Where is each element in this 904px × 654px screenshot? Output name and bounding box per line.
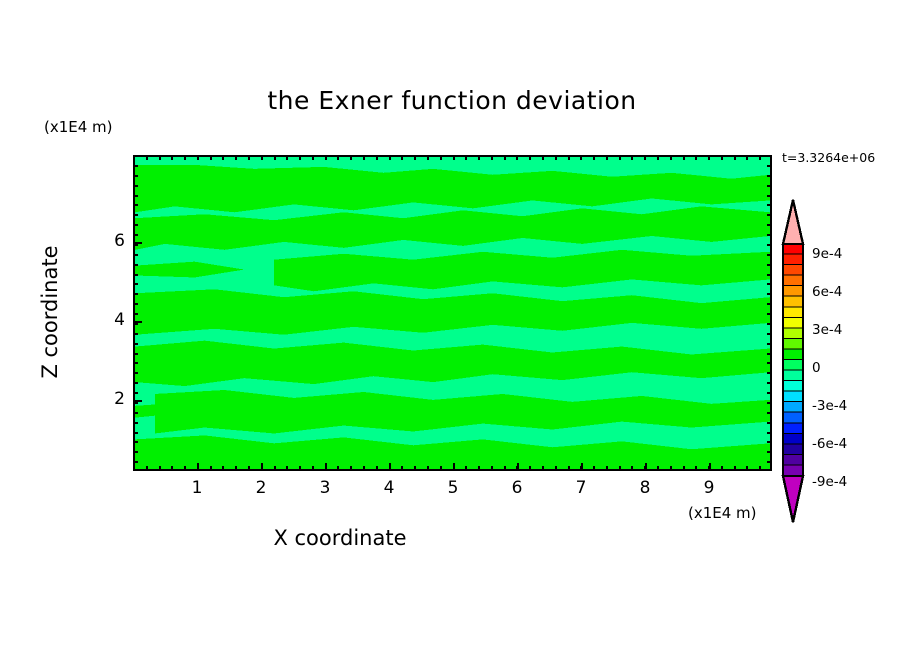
colorbar-tick-label: -6e-4 — [812, 436, 847, 452]
x-tick-minor — [542, 155, 544, 160]
colorbar-band — [783, 276, 803, 287]
contour-field — [135, 157, 770, 469]
y-tick-minor — [133, 412, 138, 414]
x-tick-minor — [734, 155, 736, 160]
y-tick-minor — [767, 283, 772, 285]
x-tick-minor — [465, 155, 467, 160]
x-tick-minor — [299, 466, 301, 471]
x-tick-minor — [657, 155, 659, 160]
colorbar-tick-label: 9e-4 — [812, 246, 842, 262]
y-tick-minor — [133, 392, 138, 394]
x-tick-minor — [222, 466, 224, 471]
colorbar-band — [783, 307, 803, 318]
y-tick-minor — [767, 303, 772, 305]
contour-plot-area[interactable] — [133, 155, 772, 471]
x-tick-minor — [683, 155, 685, 160]
x-tick-minor — [580, 466, 582, 471]
colorbar-tick-label: -3e-4 — [812, 398, 847, 414]
chart-title: the Exner function deviation — [0, 86, 904, 115]
y-tick-minor — [133, 165, 138, 167]
colorbar-band — [783, 360, 803, 371]
x-tick-minor — [721, 466, 723, 471]
x-tick-minor — [325, 466, 327, 471]
y-tick-minor — [767, 362, 772, 364]
x-tick-minor — [555, 466, 557, 471]
x-tick-minor — [670, 466, 672, 471]
y-tick-minor — [133, 175, 138, 177]
colorbar-tick-label: -9e-4 — [812, 474, 847, 490]
x-tick-minor — [580, 155, 582, 160]
x-tick-minor — [606, 155, 608, 160]
y-tick-minor — [767, 204, 772, 206]
y-tick-minor — [133, 283, 138, 285]
x-tick-minor — [555, 155, 557, 160]
y-tick-minor — [767, 214, 772, 216]
y-axis-unit-label: (x1E4 m) — [44, 118, 113, 136]
x-tick-minor — [427, 466, 429, 471]
x-tick-minor — [261, 466, 263, 471]
y-tick-minor — [767, 175, 772, 177]
y-tick-minor — [767, 353, 772, 355]
x-tick-minor — [363, 155, 365, 160]
x-tick-minor — [619, 466, 621, 471]
x-tick-minor — [734, 466, 736, 471]
x-tick-minor — [631, 155, 633, 160]
x-tick-minor — [708, 466, 710, 471]
y-tick-minor — [133, 254, 138, 256]
x-tick-minor — [593, 466, 595, 471]
x-tick-label: 8 — [630, 478, 660, 498]
timestamp-label: t=3.3264e+06 — [782, 150, 875, 165]
x-tick-minor — [159, 155, 161, 160]
colorbar-cap-top — [783, 200, 803, 244]
x-tick-minor — [516, 466, 518, 471]
x-tick-minor — [286, 155, 288, 160]
y-tick-minor — [133, 432, 138, 434]
x-tick-minor — [197, 466, 199, 471]
x-tick-minor — [440, 155, 442, 160]
colorbar-band — [783, 402, 803, 413]
y-tick-minor — [133, 323, 138, 325]
x-tick-label: 7 — [566, 478, 596, 498]
colorbar-tick-label: 3e-4 — [812, 322, 842, 338]
y-tick-minor — [767, 195, 772, 197]
x-tick-minor — [453, 466, 455, 471]
x-tick-minor — [465, 466, 467, 471]
x-tick-minor — [146, 466, 148, 471]
x-tick-minor — [350, 155, 352, 160]
x-tick-label: 2 — [246, 478, 276, 498]
x-tick-minor — [491, 466, 493, 471]
y-tick-minor — [133, 293, 138, 295]
y-tick-minor — [767, 422, 772, 424]
x-tick-minor — [248, 155, 250, 160]
colorbar-band — [783, 455, 803, 466]
x-tick-minor — [299, 155, 301, 160]
y-tick-minor — [133, 313, 138, 315]
y-tick-minor — [133, 264, 138, 266]
y-tick-label: 6 — [103, 231, 125, 251]
x-tick-label: 3 — [310, 478, 340, 498]
x-tick-minor — [210, 466, 212, 471]
y-tick-minor — [767, 392, 772, 394]
y-tick-minor — [133, 422, 138, 424]
y-tick-label: 4 — [103, 310, 125, 330]
y-tick-minor — [767, 333, 772, 335]
x-tick-minor — [222, 155, 224, 160]
x-tick-minor — [657, 466, 659, 471]
x-tick-minor — [619, 155, 621, 160]
y-tick-minor — [767, 293, 772, 295]
x-tick-minor — [184, 155, 186, 160]
y-tick-minor — [133, 333, 138, 335]
y-tick-minor — [767, 234, 772, 236]
x-tick-minor — [261, 155, 263, 160]
x-tick-minor — [644, 155, 646, 160]
x-tick-minor — [708, 155, 710, 160]
x-tick-minor — [504, 466, 506, 471]
colorbar-tick-label: 6e-4 — [812, 284, 842, 300]
x-tick-minor — [568, 466, 570, 471]
x-tick-minor — [759, 155, 761, 160]
x-tick-minor — [542, 466, 544, 471]
x-tick-minor — [593, 155, 595, 160]
colorbar-band — [783, 286, 803, 297]
colorbar-band — [783, 434, 803, 445]
x-tick-minor — [337, 466, 339, 471]
x-tick-label: 1 — [182, 478, 212, 498]
y-tick-minor — [133, 441, 138, 443]
colorbar-cap-bottom — [783, 476, 803, 522]
y-tick-minor — [767, 254, 772, 256]
x-tick-minor — [414, 466, 416, 471]
x-tick-minor — [146, 155, 148, 160]
y-tick-minor — [133, 461, 138, 463]
colorbar-band — [783, 297, 803, 308]
x-tick-label: 9 — [694, 478, 724, 498]
x-tick-minor — [184, 466, 186, 471]
y-tick-minor — [767, 451, 772, 453]
x-tick-minor — [478, 155, 480, 160]
y-tick-minor — [133, 274, 138, 276]
colorbar-band — [783, 371, 803, 382]
colorbar-band — [783, 339, 803, 350]
x-tick-label: 6 — [502, 478, 532, 498]
x-tick-minor — [325, 155, 327, 160]
colorbar-band — [783, 255, 803, 266]
y-tick-minor — [767, 343, 772, 345]
colorbar-band — [783, 423, 803, 434]
y-tick-minor — [767, 274, 772, 276]
x-tick-minor — [440, 466, 442, 471]
colorbar-band — [783, 318, 803, 329]
y-tick-minor — [767, 461, 772, 463]
x-tick-minor — [171, 155, 173, 160]
y-tick-minor — [133, 244, 138, 246]
colorbar-band — [783, 413, 803, 424]
x-tick-minor — [159, 466, 161, 471]
x-tick-minor — [683, 466, 685, 471]
colorbar-band — [783, 444, 803, 455]
x-tick-minor — [759, 466, 761, 471]
y-tick-minor — [767, 244, 772, 246]
x-tick-minor — [274, 466, 276, 471]
x-tick-minor — [312, 466, 314, 471]
y-tick-minor — [767, 264, 772, 266]
y-tick-minor — [767, 323, 772, 325]
x-tick-minor — [453, 155, 455, 160]
x-tick-minor — [491, 155, 493, 160]
y-tick-minor — [767, 313, 772, 315]
x-tick-minor — [746, 155, 748, 160]
y-tick-minor — [767, 382, 772, 384]
x-tick-minor — [376, 155, 378, 160]
x-tick-minor — [670, 155, 672, 160]
colorbar-band — [783, 328, 803, 339]
y-tick-label: 2 — [103, 389, 125, 409]
x-tick-minor — [631, 466, 633, 471]
x-tick-minor — [746, 466, 748, 471]
y-tick-minor — [133, 353, 138, 355]
x-axis-title: X coordinate — [0, 526, 680, 550]
y-tick-minor — [767, 441, 772, 443]
y-tick-minor — [133, 362, 138, 364]
x-tick-minor — [350, 466, 352, 471]
x-tick-minor — [210, 155, 212, 160]
colorbar-band — [783, 381, 803, 392]
x-tick-minor — [568, 155, 570, 160]
y-tick-minor — [133, 402, 138, 404]
y-tick-minor — [133, 224, 138, 226]
y-tick-minor — [133, 372, 138, 374]
y-tick-minor — [133, 382, 138, 384]
x-tick-minor — [427, 155, 429, 160]
y-tick-minor — [133, 204, 138, 206]
x-tick-minor — [363, 466, 365, 471]
x-tick-minor — [529, 466, 531, 471]
x-tick-minor — [248, 466, 250, 471]
x-tick-minor — [721, 155, 723, 160]
y-tick-minor — [767, 185, 772, 187]
colorbar-band — [783, 265, 803, 276]
y-tick-minor — [767, 432, 772, 434]
y-tick-minor — [767, 224, 772, 226]
x-axis-unit-label: (x1E4 m) — [688, 504, 757, 522]
y-tick-minor — [133, 195, 138, 197]
colorbar-tick-label: 0 — [812, 360, 821, 376]
y-tick-minor — [767, 165, 772, 167]
x-tick-minor — [401, 155, 403, 160]
x-tick-minor — [401, 466, 403, 471]
x-tick-label: 5 — [438, 478, 468, 498]
x-tick-minor — [695, 466, 697, 471]
x-tick-minor — [197, 155, 199, 160]
x-tick-minor — [516, 155, 518, 160]
colorbar-band — [783, 392, 803, 403]
y-tick-minor — [133, 234, 138, 236]
x-tick-minor — [235, 466, 237, 471]
x-tick-minor — [286, 466, 288, 471]
x-tick-minor — [376, 466, 378, 471]
x-tick-minor — [529, 155, 531, 160]
y-tick-minor — [133, 451, 138, 453]
y-tick-minor — [133, 185, 138, 187]
y-tick-minor — [133, 343, 138, 345]
y-axis-title: Z coordinate — [38, 202, 62, 422]
x-tick-minor — [389, 155, 391, 160]
x-tick-minor — [504, 155, 506, 160]
y-tick-minor — [767, 372, 772, 374]
x-tick-minor — [644, 466, 646, 471]
y-tick-minor — [767, 402, 772, 404]
x-tick-minor — [478, 466, 480, 471]
x-tick-minor — [389, 466, 391, 471]
x-tick-minor — [274, 155, 276, 160]
x-tick-minor — [337, 155, 339, 160]
x-tick-label: 4 — [374, 478, 404, 498]
x-tick-minor — [695, 155, 697, 160]
y-tick-minor — [767, 412, 772, 414]
colorbar-band — [783, 349, 803, 360]
y-tick-minor — [133, 214, 138, 216]
colorbar-band — [783, 244, 803, 255]
x-tick-minor — [414, 155, 416, 160]
colorbar[interactable] — [778, 198, 808, 524]
x-tick-minor — [606, 466, 608, 471]
x-tick-minor — [312, 155, 314, 160]
x-tick-minor — [171, 466, 173, 471]
y-tick-minor — [133, 303, 138, 305]
x-tick-minor — [235, 155, 237, 160]
